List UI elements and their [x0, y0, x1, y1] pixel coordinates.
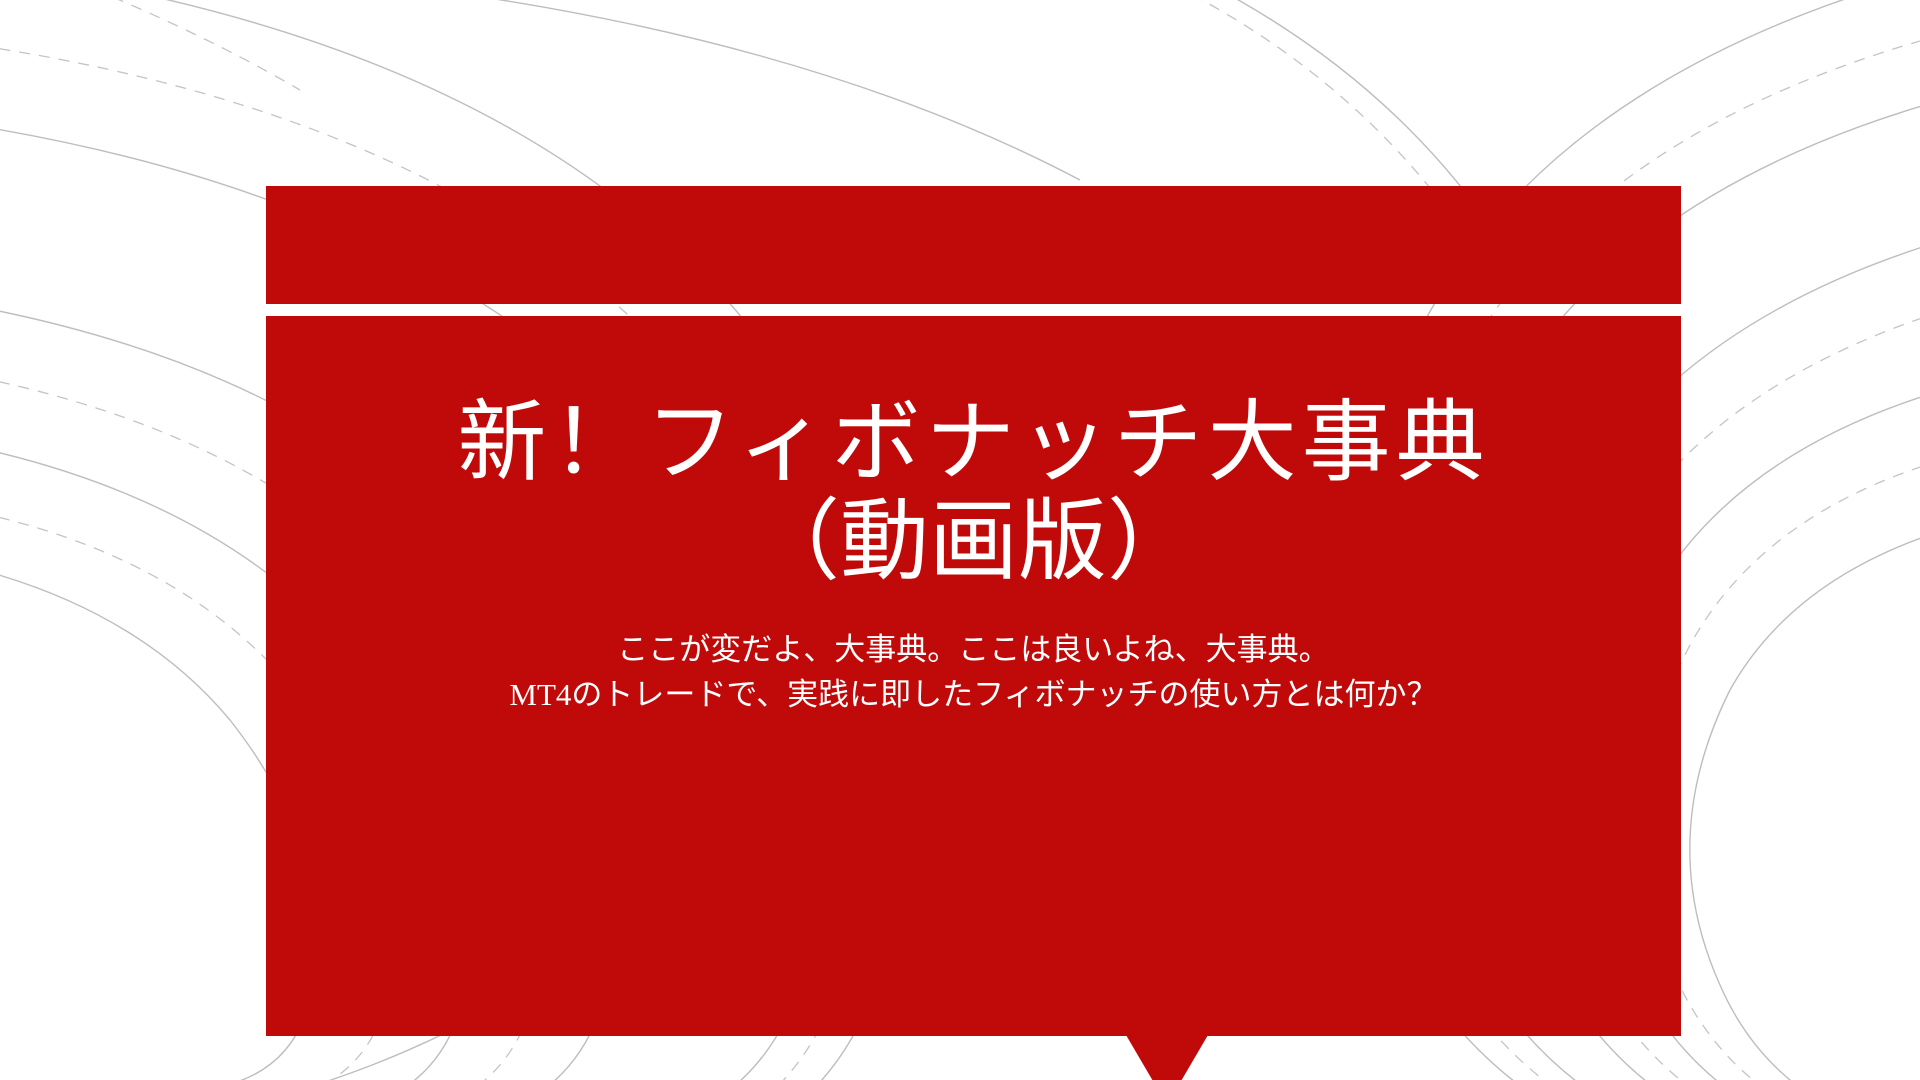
- subtitle-line-2: MT4のトレードで、実践に即したフィボナッチの使い方とは何か？: [509, 673, 1437, 718]
- speech-bubble-tail: [1126, 1035, 1208, 1080]
- page-title-line-2: （動画版）: [751, 495, 1196, 591]
- page-title-line-1: 新！フィボナッチ大事典: [457, 394, 1489, 495]
- slide-root: 新！フィボナッチ大事典 （動画版） ここが変だよ、大事典。ここは良いよね、大事典…: [0, 0, 1920, 1080]
- top-accent-bar: [266, 186, 1681, 304]
- subtitle-block: ここが変だよ、大事典。ここは良いよね、大事典。 MT4のトレードで、実践に即した…: [509, 628, 1437, 718]
- subtitle-line-1: ここが変だよ、大事典。ここは良いよね、大事典。: [509, 628, 1437, 673]
- slide-content: 新！フィボナッチ大事典 （動画版） ここが変だよ、大事典。ここは良いよね、大事典…: [266, 316, 1681, 1036]
